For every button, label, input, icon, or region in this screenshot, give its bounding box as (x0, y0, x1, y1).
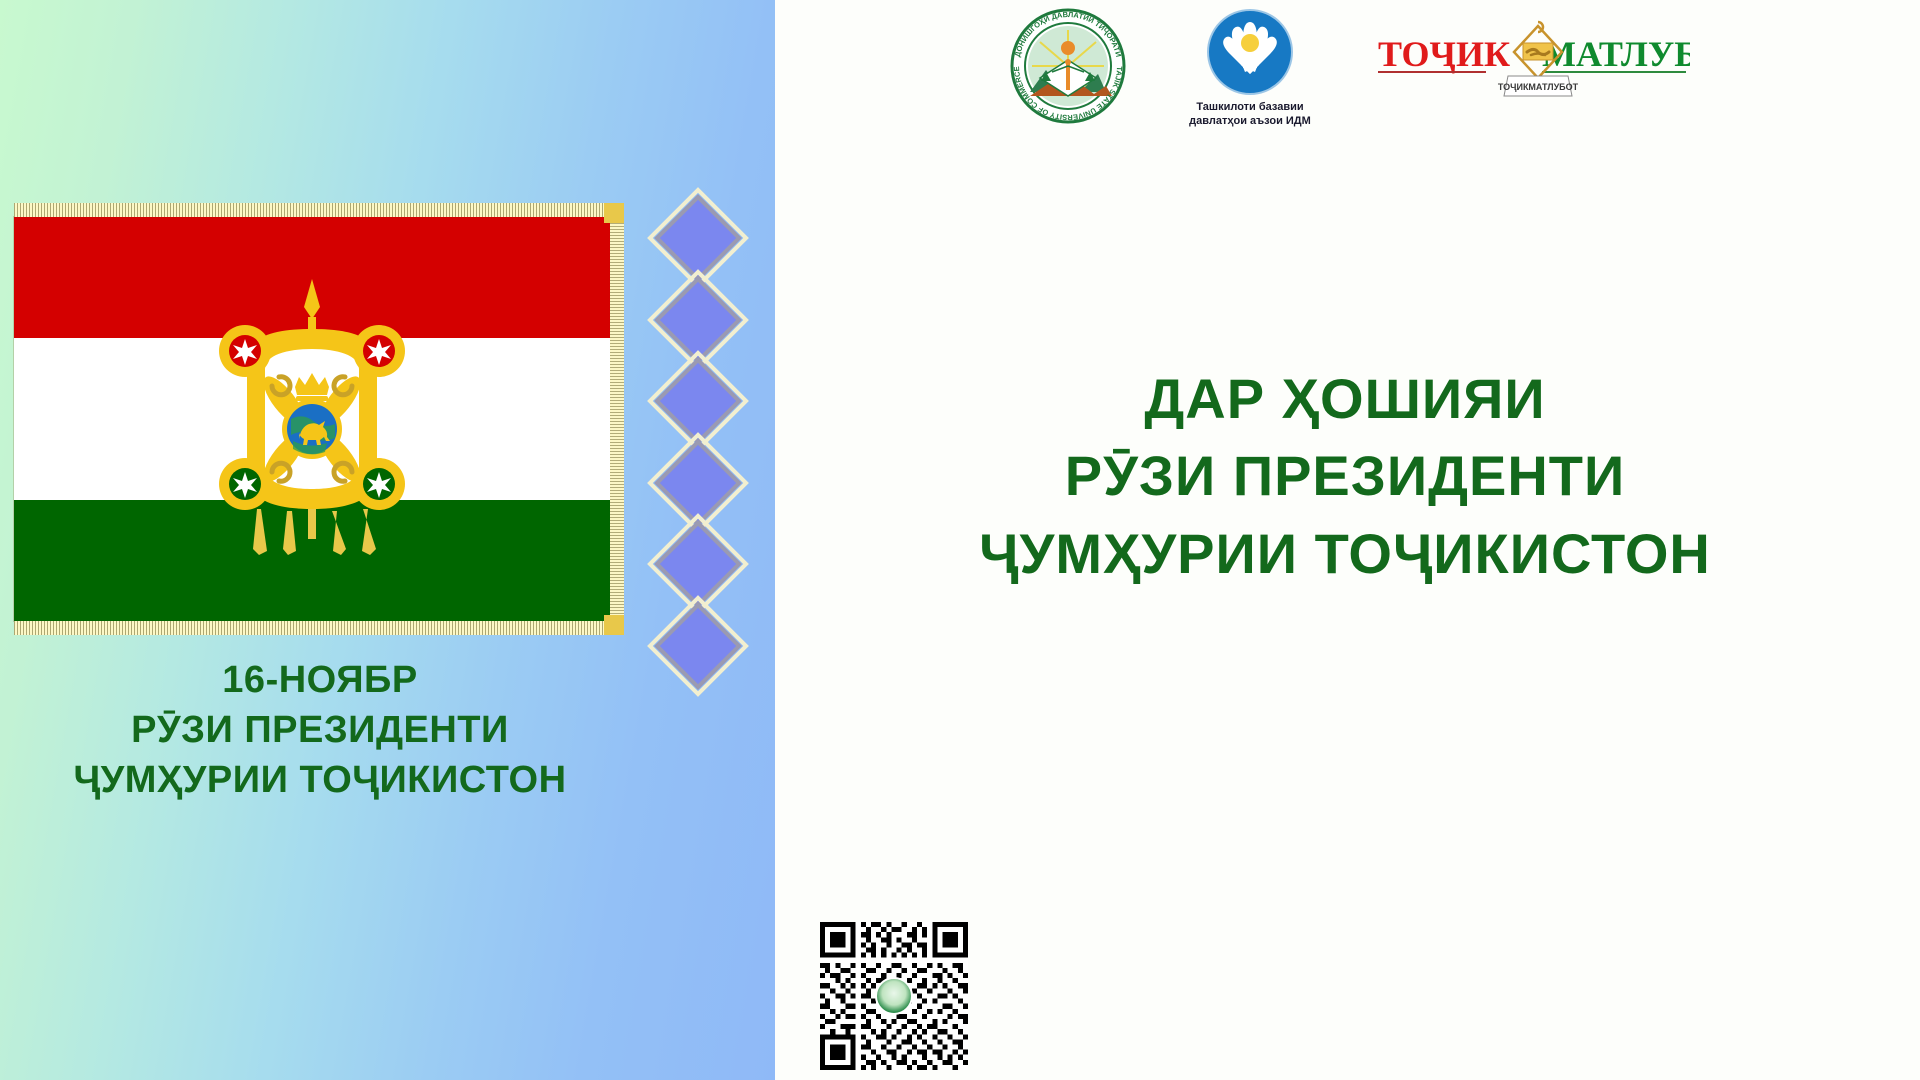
logo-tajik-state-university-of-commerce: ДОНИШГОҲИ ДАВЛАТИИ ТИҶОРАТИ TAJIK STATE … (1010, 8, 1126, 124)
diamond-icon (654, 602, 742, 690)
page-title: ДАР ҲОШИЯИ РӮЗИ ПРЕЗИДЕНТИ ҶУМҲУРИИ ТОҶИ… (790, 360, 1900, 592)
diamond-divider (648, 207, 748, 677)
slide-canvas: 16-НОЯБР РӮЗИ ПРЕЗИДЕНТИ ҶУМҲУРИИ ТОҶИКИ… (0, 0, 1920, 1080)
flag-fringe-bottom (14, 621, 624, 635)
logo-cis-base-organization: Ташкилоти базавии давлатҳои аъзои ИДМ (1186, 8, 1314, 129)
presidential-standard-flag (14, 203, 624, 635)
diamond-icon (654, 439, 742, 527)
heading-line-1: ДАР ҲОШИЯИ (790, 360, 1900, 437)
logo-row: ДОНИШГОҲИ ДАВЛАТИИ ТИҶОРАТИ TAJIK STATE … (1010, 8, 1690, 138)
diamond-icon (654, 194, 742, 282)
flag-fringe-right (610, 203, 624, 635)
university-seal-icon: ДОНИШГОҲИ ДАВЛАТИИ ТИҶОРАТИ TAJIK STATE … (1010, 8, 1126, 124)
flag-corner-bottom-right (604, 615, 624, 635)
heading-line-2: РӮЗИ ПРЕЗИДЕНТИ (790, 437, 1900, 514)
flag-caption-line-1: 16-НОЯБР (0, 655, 640, 705)
logo-tojikmatlubot: ТОҶИК МАТЛУБОТ ТОҶИКМАТЛУБОТ (1374, 8, 1690, 104)
flag-body (14, 217, 610, 621)
tojikmatlubot-word-left: ТОҶИК (1378, 34, 1510, 74)
qr-code[interactable] (820, 922, 968, 1070)
tojikmatlubot-banner-text: ТОҶИКМАТЛУБОТ (1498, 82, 1579, 92)
flag-corner-top-right (604, 203, 624, 223)
flag-caption-line-2: РӮЗИ ПРЕЗИДЕНТИ (0, 705, 640, 755)
qr-center-logo-icon (875, 977, 913, 1015)
diamond-icon (654, 357, 742, 445)
flag-fringe-top (14, 203, 624, 217)
diamond-icon (654, 521, 742, 609)
diamond-icon (654, 276, 742, 364)
flag-caption-line-3: ҶУМҲУРИИ ТОҶИКИСТОН (0, 755, 640, 805)
heading-line-3: ҶУМҲУРИИ ТОҶИКИСТОН (790, 515, 1900, 592)
cis-emblem-icon (1206, 8, 1294, 96)
tojikmatlubot-word-right: МАТЛУБОТ (1542, 34, 1690, 74)
tajikistan-emblem-icon (187, 269, 437, 569)
cis-logo-caption: Ташкилоти базавии давлатҳои аъзои ИДМ (1186, 101, 1314, 129)
flag-caption: 16-НОЯБР РӮЗИ ПРЕЗИДЕНТИ ҶУМҲУРИИ ТОҶИКИ… (0, 655, 640, 805)
tojikmatlubot-logo-icon: ТОҶИК МАТЛУБОТ ТОҶИКМАТЛУБОТ (1374, 8, 1690, 104)
